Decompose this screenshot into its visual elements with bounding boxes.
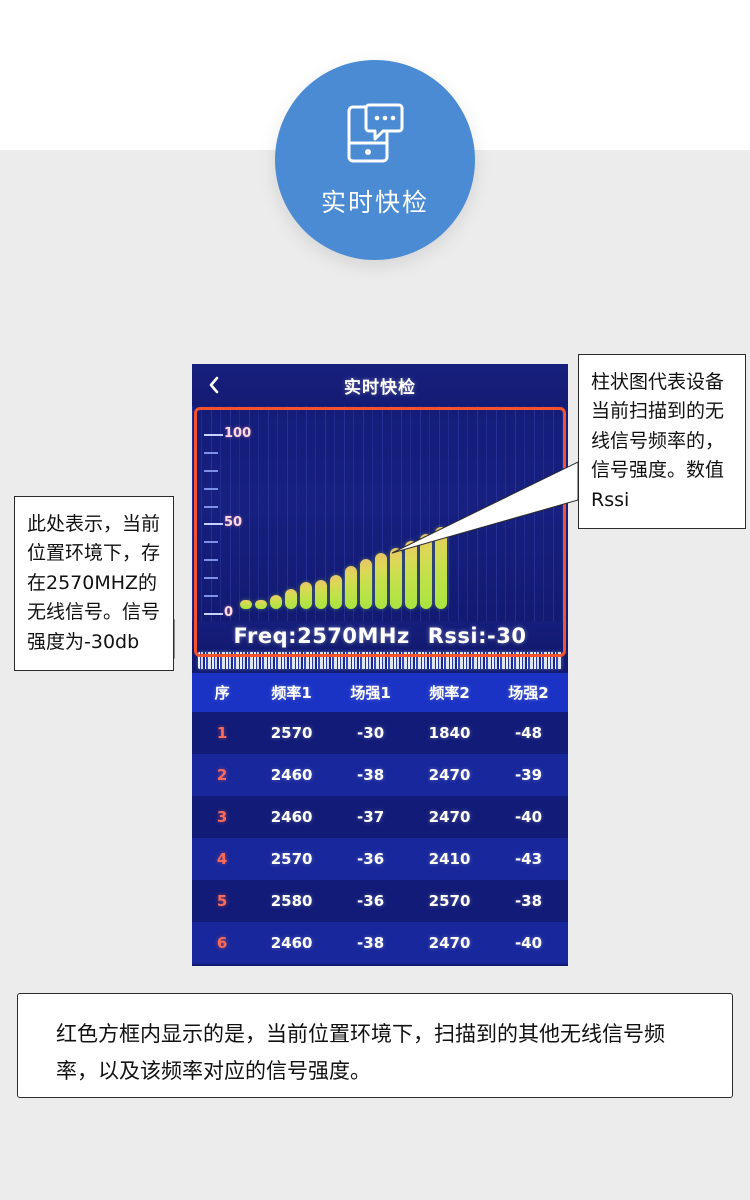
chart-bar [300,582,312,609]
col-header-rssi2: 场强2 [489,673,568,712]
table-row[interactable]: 62460-382470-40 [192,922,568,964]
chart-bar [420,534,432,609]
cell-seq: 5 [192,880,252,922]
cell-freq1: 2460 [252,754,331,796]
chart-bar [390,548,402,609]
cell-rssi2: -48 [489,712,568,754]
table-body: 12570-301840-4822460-382470-3932460-3724… [192,712,568,964]
chart-bar [315,580,327,609]
chart-bar [270,595,282,609]
y-axis-tick-label: 0 [224,605,233,620]
y-axis-minor-tick [204,559,218,561]
readout-line: Freq:2570MHz Rssi:-30 [192,621,568,651]
table-row[interactable]: 52580-362570-38 [192,880,568,922]
cell-rssi1: -38 [331,754,410,796]
feature-badge-label: 实时快检 [321,183,429,219]
page-root: 实时快检 实时快检 100500 Freq:2570MHz Rssi:-30 [0,0,750,1200]
cell-rssi2: -40 [489,796,568,838]
table-row[interactable]: 12570-301840-48 [192,712,568,754]
phone-chat-icon [345,101,405,167]
cell-freq2: 2410 [410,838,489,880]
cell-seq: 6 [192,922,252,964]
cell-freq1: 2570 [252,712,331,754]
chart-bar [345,566,357,609]
col-header-freq2: 频率2 [410,673,489,712]
cell-rssi1: -36 [331,880,410,922]
cell-freq2: 2570 [410,880,489,922]
cell-rssi1: -36 [331,838,410,880]
cell-seq: 3 [192,796,252,838]
y-axis-major-tick [204,613,223,615]
chart-bar [255,600,267,609]
y-axis-minor-tick [204,506,218,508]
y-axis-minor-tick [204,488,218,490]
y-axis-major-tick [204,434,223,436]
table-row[interactable]: 42570-362410-43 [192,838,568,880]
cell-seq: 2 [192,754,252,796]
chart-bars [240,420,562,609]
cell-freq1: 2580 [252,880,331,922]
readout-rssi: Rssi:-30 [428,624,527,648]
chart-bar [435,527,447,609]
col-header-seq: 序 [192,673,252,712]
cell-freq2: 1840 [410,712,489,754]
app-header: 实时快检 [192,364,568,406]
cell-freq1: 2570 [252,838,331,880]
annotation-bottom: 红色方框内显示的是，当前位置环境下，扫描到的其他无线信号频率，以及该频率对应的信… [17,993,733,1098]
table-row[interactable]: 32460-372470-40 [192,796,568,838]
y-axis-major-tick [204,523,223,525]
cell-rssi2: -43 [489,838,568,880]
cell-rssi1: -37 [331,796,410,838]
col-header-freq1: 频率1 [252,673,331,712]
spectrum-strip [198,652,562,669]
cell-freq2: 2470 [410,922,489,964]
chart-bar [240,600,252,609]
annotation-left: 此处表示，当前位置环境下，存在2570MHZ的无线信号。信号强度为-30db [14,496,174,671]
table-row[interactable]: 22460-382470-39 [192,754,568,796]
chart-bar [405,541,417,609]
cell-rssi2: -39 [489,754,568,796]
chart-bar [330,575,342,609]
app-title: 实时快检 [344,373,416,398]
y-axis-minor-tick [204,595,218,597]
cell-freq1: 2460 [252,922,331,964]
chevron-left-icon[interactable] [206,375,222,395]
feature-badge: 实时快检 [275,60,475,260]
cell-freq2: 2470 [410,796,489,838]
cell-freq1: 2460 [252,796,331,838]
cell-rssi1: -38 [331,922,410,964]
table-header-row: 序 频率1 场强1 频率2 场强2 [192,673,568,712]
cell-rssi2: -40 [489,922,568,964]
cell-seq: 1 [192,712,252,754]
col-header-rssi1: 场强1 [331,673,410,712]
y-axis-minor-tick [204,541,218,543]
cell-freq2: 2470 [410,754,489,796]
cell-seq: 4 [192,838,252,880]
chart-y-axis: 100500 [198,416,242,613]
chart-bar [375,553,387,609]
cell-rssi1: -30 [331,712,410,754]
spectrum-chart: 100500 [192,406,568,621]
y-axis-minor-tick [204,452,218,454]
cell-rssi2: -38 [489,880,568,922]
chart-bar [285,589,297,609]
signal-table: 序 频率1 场强1 频率2 场强2 12570-301840-4822460-3… [192,673,568,964]
y-axis-minor-tick [204,577,218,579]
readout-freq: Freq:2570MHz [234,624,410,648]
phone-screenshot: 实时快检 100500 Freq:2570MHz Rssi:-30 序 频率1 … [192,364,568,966]
y-axis-minor-tick [204,470,218,472]
chart-bar [360,559,372,609]
annotation-right: 柱状图代表设备当前扫描到的无线信号频率的，信号强度。数值Rssi [578,354,746,529]
